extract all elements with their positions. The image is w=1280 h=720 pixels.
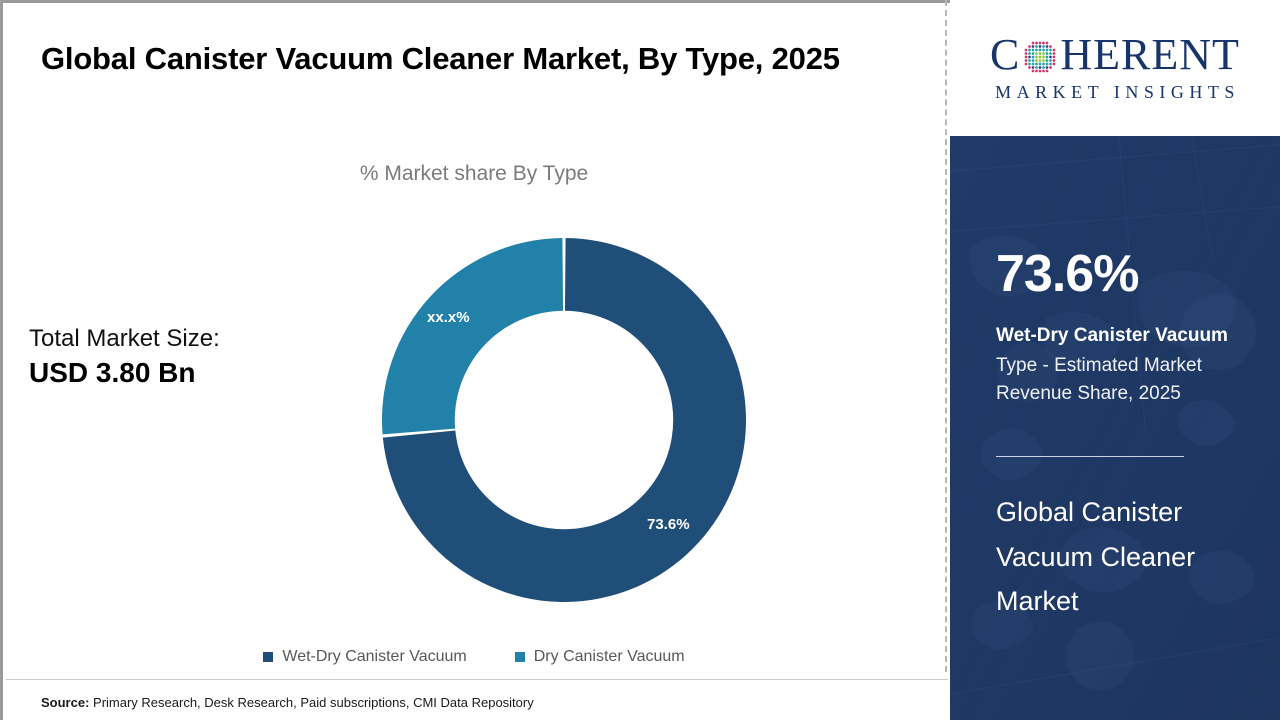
logo-tagline: MARKET INSIGHTS	[990, 82, 1240, 103]
donut-chart-svg	[379, 235, 749, 605]
chart-legend: Wet-Dry Canister Vacuum Dry Canister Vac…	[3, 648, 945, 666]
logo-word-after: HERENT	[1060, 33, 1240, 77]
source-prefix: Source:	[41, 695, 89, 710]
legend-label: Wet-Dry Canister Vacuum	[282, 648, 466, 666]
panel-market-name: Global Canister Vacuum Cleaner Market	[996, 490, 1244, 624]
source-note: Source: Primary Research, Desk Research,…	[41, 695, 534, 710]
source-text: Primary Research, Desk Research, Paid su…	[89, 695, 533, 710]
legend-item-dry-canister-vacuum[interactable]: Dry Canister Vacuum	[515, 648, 685, 666]
slice-label-dry-canister-vacuum: xx.x%	[427, 309, 470, 326]
stat-caption-secondary: Type - Estimated Market Revenue Share, 2…	[996, 352, 1258, 407]
donut-chart: xx.x% 73.6%	[379, 235, 749, 605]
right-column: C HERENT MARKET INSIGHTS	[950, 0, 1280, 720]
legend-swatch-icon	[515, 652, 525, 662]
total-market-size: Total Market Size: USD 3.80 Bn	[29, 325, 220, 392]
globe-dots-icon	[1021, 38, 1059, 76]
infographic-page: Global Canister Vacuum Cleaner Market, B…	[0, 0, 1280, 720]
stat-value: 73.6%	[996, 248, 1138, 300]
logo-word-before: C	[990, 33, 1020, 77]
brand-logo: C HERENT MARKET INSIGHTS	[950, 0, 1280, 136]
source-divider	[6, 679, 948, 680]
slice-label-wet-dry-canister-vacuum: 73.6%	[647, 516, 690, 533]
legend-item-wet-dry-canister-vacuum[interactable]: Wet-Dry Canister Vacuum	[263, 648, 466, 666]
donut-slice[interactable]	[382, 238, 563, 434]
total-market-size-label: Total Market Size:	[29, 325, 220, 354]
highlight-panel-content: 73.6% Wet-Dry Canister Vacuum Type - Est…	[996, 136, 1264, 720]
legend-label: Dry Canister Vacuum	[534, 648, 685, 666]
page-title: Global Canister Vacuum Cleaner Market, B…	[41, 35, 851, 84]
chart-pane: Global Canister Vacuum Cleaner Market, B…	[3, 3, 945, 720]
legend-swatch-icon	[263, 652, 273, 662]
total-market-size-value: USD 3.80 Bn	[29, 354, 220, 392]
chart-subtitle: % Market share By Type	[3, 162, 945, 186]
logo-wordmark: C HERENT	[990, 33, 1240, 77]
stat-caption-primary: Wet-Dry Canister Vacuum	[996, 324, 1228, 348]
vertical-dashed-divider	[945, 0, 947, 672]
panel-divider	[996, 456, 1184, 457]
highlight-panel: 73.6% Wet-Dry Canister Vacuum Type - Est…	[950, 136, 1280, 720]
